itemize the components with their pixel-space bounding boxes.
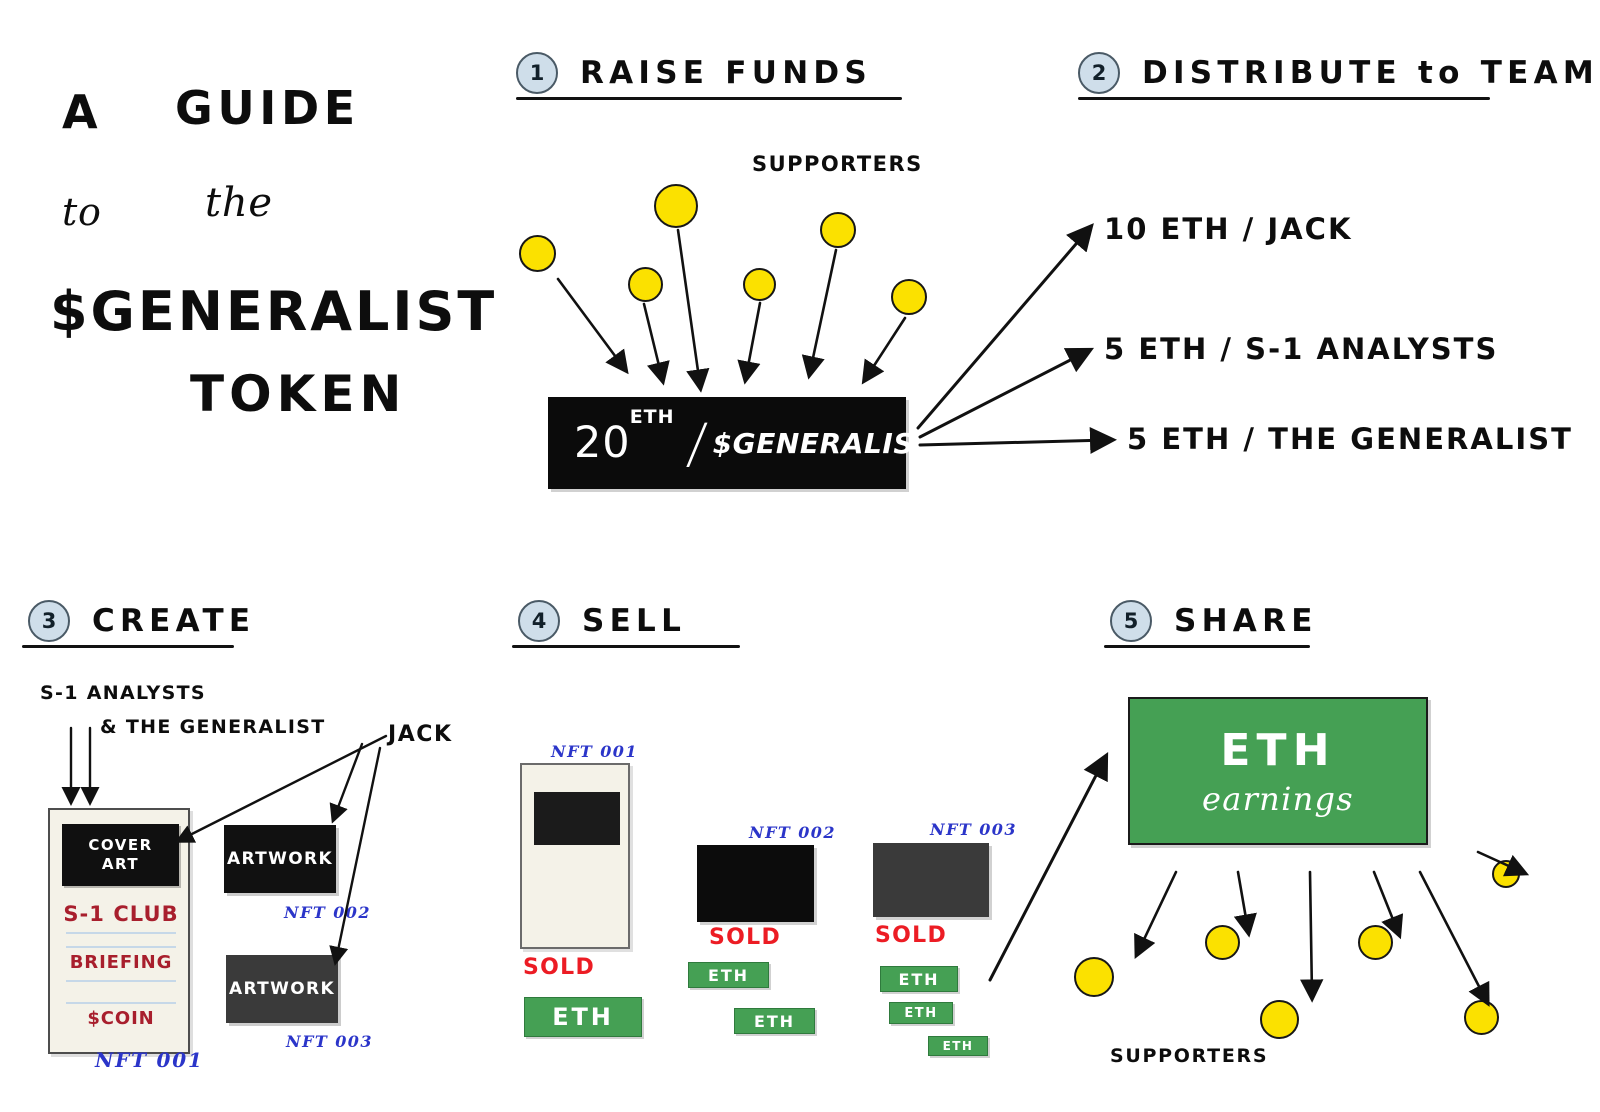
sell-nft-003-thumbnail [873,843,989,917]
section-rule-4 [512,645,740,648]
eth-earnings-box: ETH earnings [1128,697,1428,845]
sell-nft-001-card [520,763,630,949]
title-word-a: A [62,85,102,139]
sold-label: SOLD [875,923,947,948]
supporter-coin [1260,1000,1299,1039]
nft-001-card: COVER ART S-1 CLUB BRIEFING $COIN [48,808,190,1054]
sell-nft-001-thumbnail [534,792,620,845]
distribution-item: 5 ETH / THE GENERALIST [1127,422,1573,456]
section-header-share: 5 SHARE [1110,600,1318,642]
artwork-box-002: ARTWORK [224,825,336,893]
distribution-item: 10 ETH / JACK [1104,212,1352,246]
supporters-label-raise: SUPPORTERS [752,152,923,176]
section-rule-1 [516,97,902,100]
raise-banner-ticker: $GENERALIST [713,427,934,460]
eth-earnings-title: ETH [1220,725,1335,776]
section-title-sell: SELL [582,603,686,639]
raise-amount-value: 20 ETH [574,418,630,468]
supporter-coin [820,212,856,248]
card-row-label: BRIEFING [60,952,182,973]
step-badge-4: 4 [518,600,560,642]
eth-box-label: ETH [943,1039,974,1053]
eth-box: ETH [889,1002,953,1024]
section-title-raise-funds: RAISE FUNDS [580,55,872,91]
section-rule-3 [22,645,234,648]
cover-art-line-1: COVER [88,836,152,855]
supporter-coin [519,235,556,272]
supporter-coin [1205,925,1240,960]
eth-box: ETH [880,966,958,992]
eth-box: ETH [928,1036,988,1056]
section-rule-5 [1104,645,1310,648]
section-header-create: 3 CREATE [28,600,255,642]
artwork-label: ARTWORK [229,979,335,999]
create-source-jack: JACK [388,722,453,747]
raise-amount-unit: ETH [630,406,675,428]
section-header-distribute: 2 DISTRIBUTE to TEAM [1078,52,1599,94]
section-rule-2 [1078,97,1490,100]
title-word-token: TOKEN [190,365,406,423]
supporter-coin [891,279,927,315]
eth-earnings-subtitle: earnings [1202,780,1354,818]
raise-amount-banner: 20 ETH / $GENERALIST [548,397,906,489]
supporter-coin [654,184,698,228]
title-word-generalist: $GENERALIST [50,280,497,343]
create-source-generalist: & THE GENERALIST [100,716,326,738]
raise-banner-slash: / [685,412,710,475]
supporter-coin [1492,860,1520,888]
cover-art-box: COVER ART [62,824,179,886]
section-title-distribute: DISTRIBUTE to TEAM [1142,55,1599,91]
step-badge-5: 5 [1110,600,1152,642]
supporter-coin [743,268,776,301]
supporter-coin [628,267,663,302]
artwork-box-003: ARTWORK [226,955,338,1023]
title-word-guide: GUIDE [175,81,360,135]
supporter-coin [1358,925,1393,960]
create-source-analysts: S-1 ANALYSTS [40,682,206,704]
section-header-sell: 4 SELL [518,600,686,642]
infographic-canvas: A GUIDE to the $GENERALIST TOKEN 1 RAISE… [0,0,1600,1112]
eth-box: ETH [734,1008,815,1034]
nft-tag-003-sell: NFT 003 [930,820,1017,839]
step-badge-2: 2 [1078,52,1120,94]
step-badge-3: 3 [28,600,70,642]
supporter-coin [1464,1000,1499,1035]
eth-box-label: ETH [904,1006,937,1021]
card-row-label: $COIN [60,1008,182,1029]
nft-tag-001-create: NFT 001 [95,1048,204,1072]
eth-box: ETH [688,962,769,988]
artwork-label: ARTWORK [227,849,333,869]
eth-box-label: ETH [754,1012,795,1031]
section-title-create: CREATE [92,603,255,639]
sold-label: SOLD [523,955,595,980]
supporters-label-share: SUPPORTERS [1110,1045,1268,1067]
title-word-to: to [62,190,102,234]
nft-tag-003-create: NFT 003 [286,1032,373,1051]
eth-box-label: ETH [552,1003,614,1031]
supporter-coin [1074,957,1114,997]
step-badge-1: 1 [516,52,558,94]
section-header-raise-funds: 1 RAISE FUNDS [516,52,872,94]
section-title-share: SHARE [1174,603,1318,639]
nft-tag-002-create: NFT 002 [284,903,371,922]
card-row-label: S-1 CLUB [60,902,182,926]
eth-box: ETH [524,997,642,1037]
eth-box-label: ETH [708,966,749,985]
sold-label: SOLD [709,925,781,950]
sell-nft-002-thumbnail [697,845,814,922]
nft-tag-002-sell: NFT 002 [749,823,836,842]
cover-art-line-2: ART [102,855,139,874]
nft-tag-001-sell: NFT 001 [551,742,638,761]
raise-amount-number: 20 [574,418,630,468]
distribution-item: 5 ETH / S-1 ANALYSTS [1104,332,1498,366]
eth-box-label: ETH [899,970,940,989]
title-word-the: the [205,180,273,226]
